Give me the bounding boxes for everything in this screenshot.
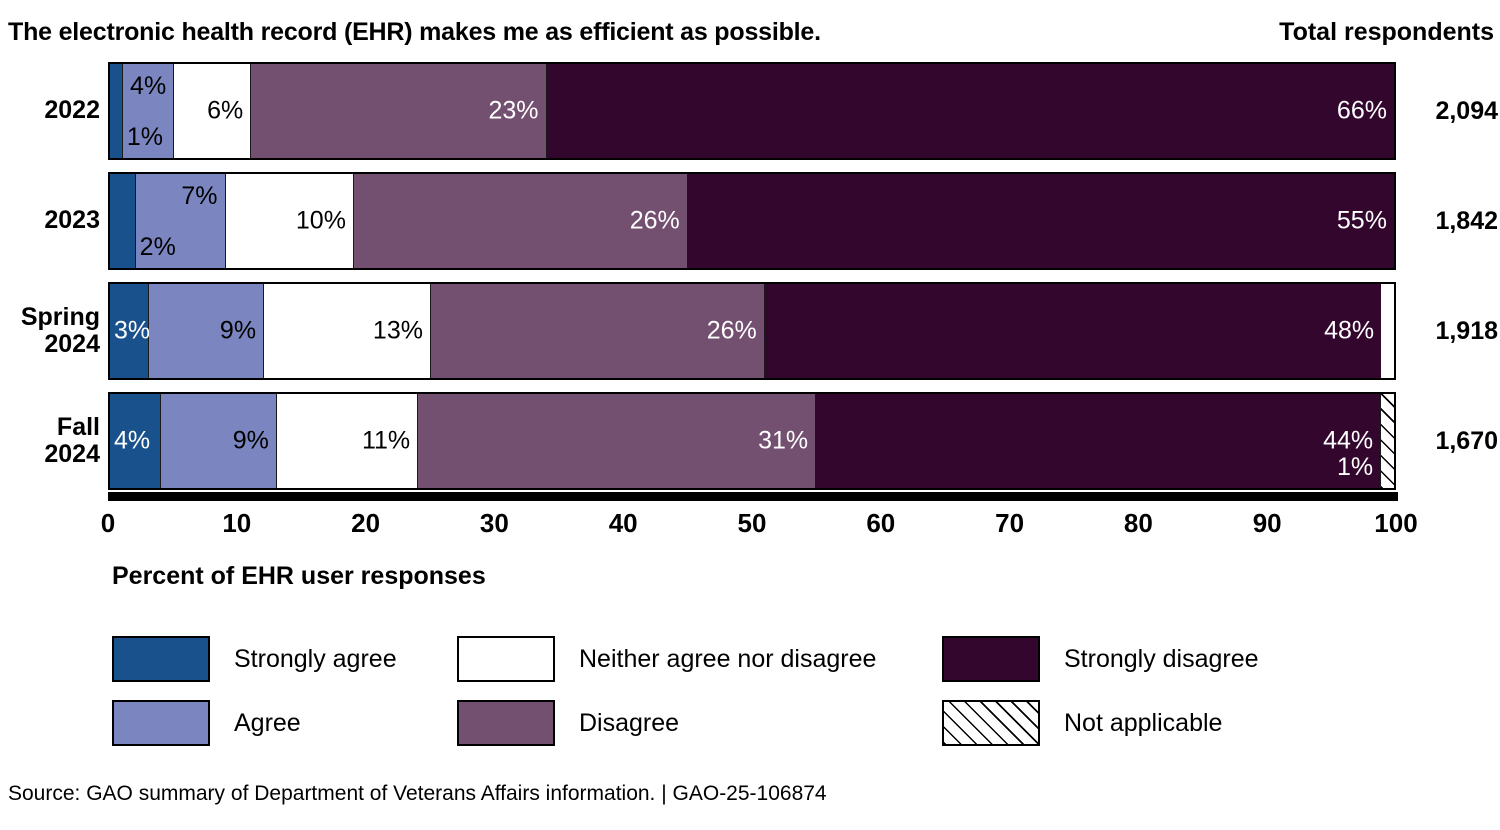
bar-row: 7%2%10%26%55% (108, 172, 1396, 270)
segment-value-label: 7% (181, 184, 217, 209)
x-tick-label: 10 (222, 508, 251, 539)
bar-segment: 23% (251, 64, 546, 158)
legend-label: Neither agree nor disagree (579, 645, 876, 674)
bar-segment: 10% (226, 174, 354, 268)
total-respondents-header: Total respondents (1279, 18, 1494, 47)
bar-row: 4%9%11%31%44%1% (108, 392, 1396, 490)
segment-value-label: 4% (114, 429, 150, 454)
legend-label: Strongly agree (234, 645, 397, 674)
legend-label: Strongly disagree (1064, 645, 1259, 674)
x-tick-label: 40 (609, 508, 638, 539)
segment-value-label: 13% (373, 319, 423, 344)
legend-swatch (942, 636, 1040, 682)
segment-value-label: 26% (707, 319, 757, 344)
legend-swatch (112, 700, 210, 746)
source-note: Source: GAO summary of Department of Vet… (8, 782, 827, 806)
x-tick-label: 100 (1374, 508, 1417, 539)
bar-segment: 55% (688, 174, 1394, 268)
category-label: 2022 (0, 62, 100, 160)
bar-segment: 3% (110, 284, 149, 378)
segment-value-label: 23% (488, 99, 538, 124)
chart-title: The electronic health record (EHR) makes… (8, 18, 821, 47)
legend-swatch (457, 636, 555, 682)
x-tick-label: 0 (101, 508, 115, 539)
segment-value-label: 10% (296, 209, 346, 234)
bar-segment: 4% (110, 394, 161, 488)
bar-segment: 11% (277, 394, 418, 488)
legend-swatch (942, 700, 1040, 746)
segment-value-label: 55% (1337, 209, 1387, 234)
x-tick-label: 50 (738, 508, 767, 539)
legend: Strongly agreeNeither agree nor disagree… (112, 636, 1412, 756)
x-axis-title: Percent of EHR user responses (112, 562, 486, 591)
legend-item: Strongly disagree (942, 636, 1259, 682)
category-label: 2023 (0, 172, 100, 270)
category-label: Fall2024 (0, 392, 100, 490)
bar-segment: 44%1% (816, 394, 1381, 488)
bar-segment (110, 64, 123, 158)
legend-label: Disagree (579, 709, 679, 738)
stacked-bar: 3%9%13%26%48% (108, 282, 1396, 380)
x-axis-line (108, 492, 1398, 501)
bar-segment (1381, 394, 1394, 488)
segment-value-label: 4% (130, 74, 166, 99)
category-label: Spring2024 (0, 282, 100, 380)
segment-value-label: 31% (758, 429, 808, 454)
bar-segment: 26% (431, 284, 765, 378)
x-tick-label: 60 (866, 508, 895, 539)
bar-row: 4%1%6%23%66% (108, 62, 1396, 160)
segment-value-label: 3% (114, 319, 150, 344)
total-respondents-value: 1,670 (1404, 392, 1498, 490)
stacked-bar-chart: The electronic health record (EHR) makes… (0, 0, 1500, 830)
x-tick-label: 30 (480, 508, 509, 539)
legend-item: Strongly agree (112, 636, 397, 682)
stacked-bar: 4%9%11%31%44%1% (108, 392, 1396, 490)
x-tick-label: 80 (1124, 508, 1153, 539)
segment-value-label: 26% (630, 209, 680, 234)
stacked-bar: 4%1%6%23%66% (108, 62, 1396, 160)
legend-swatch (457, 700, 555, 746)
segment-value-label: 6% (207, 99, 243, 124)
bar-segment: 66% (547, 64, 1394, 158)
x-tick-label: 70 (995, 508, 1024, 539)
plot-area: 4%1%6%23%66%7%2%10%26%55%3%9%13%26%48%4%… (108, 62, 1396, 492)
segment-value-label: 9% (233, 429, 269, 454)
bar-segment: 9% (149, 284, 265, 378)
bar-row: 3%9%13%26%48% (108, 282, 1396, 380)
segment-value-label: 48% (1324, 319, 1374, 344)
x-tick-label: 20 (351, 508, 380, 539)
bar-segment: 7%2% (136, 174, 226, 268)
segment-value-label: 44% (1323, 429, 1373, 454)
legend-label: Agree (234, 709, 301, 738)
segment-value-label: 1% (1337, 455, 1373, 480)
bar-segment: 31% (418, 394, 816, 488)
legend-item: Disagree (457, 700, 679, 746)
bar-segment: 26% (354, 174, 688, 268)
legend-swatch (112, 636, 210, 682)
legend-label: Not applicable (1064, 709, 1222, 738)
total-respondents-value: 1,918 (1404, 282, 1498, 380)
legend-item: Neither agree nor disagree (457, 636, 876, 682)
bar-segment: 9% (161, 394, 277, 488)
total-respondents-value: 1,842 (1404, 172, 1498, 270)
legend-item: Not applicable (942, 700, 1222, 746)
segment-value-label: 11% (362, 429, 410, 454)
x-tick-label: 90 (1253, 508, 1282, 539)
legend-item: Agree (112, 700, 301, 746)
segment-value-label: 66% (1337, 99, 1387, 124)
bar-segment: 13% (264, 284, 431, 378)
total-respondents-value: 2,094 (1404, 62, 1498, 160)
bar-segment: 4%1% (123, 64, 174, 158)
segment-value-label: 9% (220, 319, 256, 344)
bar-segment: 6% (174, 64, 251, 158)
bar-segment: 48% (765, 284, 1381, 378)
stacked-bar: 7%2%10%26%55% (108, 172, 1396, 270)
bar-segment (110, 174, 136, 268)
